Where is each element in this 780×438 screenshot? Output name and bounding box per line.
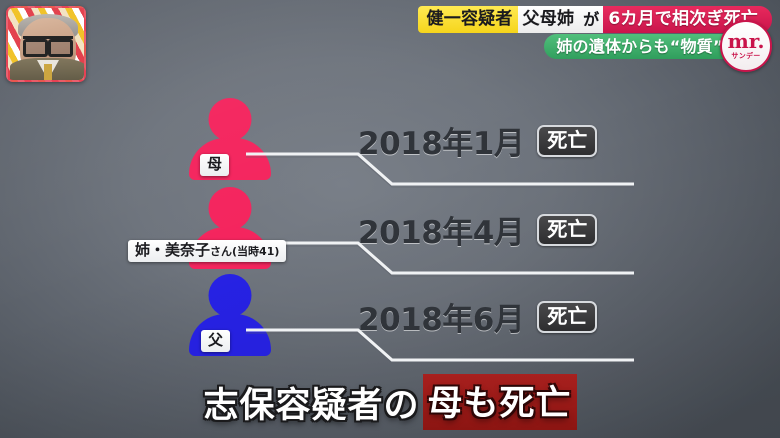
date-group-father: 2018年6月 死亡 [358, 294, 597, 339]
headline-particle: が [579, 6, 603, 33]
date-text-mother: 2018年1月 [358, 118, 524, 163]
headline-suspect-name: 健一容疑者 [418, 6, 518, 33]
thumbnail-glasses-icon [23, 36, 73, 49]
timeline-row-father: 父 2018年6月 死亡 [0, 272, 780, 382]
sister-name: 姉・美奈子 [135, 241, 210, 259]
status-badge-mother: 死亡 [537, 125, 597, 157]
headline-banner: 健一容疑者 父母姉 が 6カ月で相次ぎ死亡 姉の遺体からも“物質”検出 mr. … [418, 6, 772, 59]
date-text-sister: 2018年4月 [358, 207, 524, 252]
sister-honorific: さん [210, 245, 232, 258]
status-badge-father: 死亡 [537, 301, 597, 333]
caption-highlight-text: 母も死亡 [423, 374, 577, 430]
person-label-father: 父 [201, 330, 230, 352]
thumbnail-tie [44, 64, 52, 80]
person-label-sister: 姉・美奈子さん(当時41) [128, 240, 286, 262]
date-group-sister: 2018年4月 死亡 [358, 207, 597, 252]
headline-family-members: 父母姉 [518, 6, 580, 33]
date-group-mother: 2018年1月 死亡 [358, 118, 597, 163]
suspect-thumbnail [6, 6, 86, 82]
bottom-caption: 志保容疑者の 母も死亡 [0, 374, 780, 430]
program-logo-main: mr. [728, 32, 765, 51]
program-logo: mr. サンデー [720, 20, 772, 72]
sister-age-note: (当時41) [232, 245, 279, 258]
headline-line-1: 健一容疑者 父母姉 が 6カ月で相次ぎ死亡 [418, 6, 772, 33]
date-text-father: 2018年6月 [358, 294, 524, 339]
broadcast-screen: 健一容疑者 父母姉 が 6カ月で相次ぎ死亡 姉の遺体からも“物質”検出 mr. … [0, 0, 780, 438]
headline-line-2: 姉の遺体からも“物質”検出 [418, 34, 772, 59]
status-badge-sister: 死亡 [537, 214, 597, 246]
caption-plain-text: 志保容疑者の [203, 377, 419, 428]
person-label-mother: 母 [200, 154, 229, 176]
person-head [209, 98, 252, 141]
program-logo-sub: サンデー [731, 51, 760, 61]
